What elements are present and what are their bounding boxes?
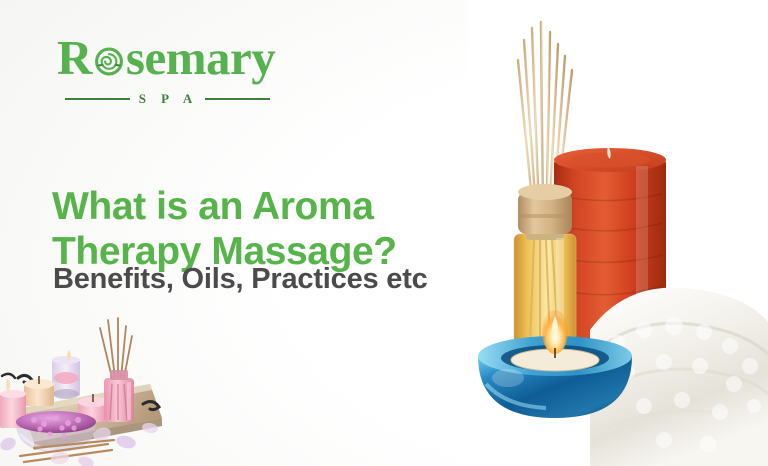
- hero-banner: R semary S P A What is an Aroma Therapy …: [0, 0, 768, 466]
- logo-text-part2: semary: [126, 30, 275, 85]
- logo-tagline-group: S P A: [65, 90, 270, 108]
- logo-text-part1: R: [57, 30, 92, 85]
- logo-tagline: S P A: [137, 91, 199, 107]
- logo-rule-right: [205, 98, 270, 100]
- rose-icon: [91, 44, 127, 80]
- page-subtitle: Benefits, Oils, Practices etc: [53, 262, 533, 297]
- spa-tray-photo: [0, 316, 232, 466]
- logo-wordmark: R semary: [57, 33, 317, 82]
- headline-line-1: What is an Aroma: [52, 185, 374, 228]
- spa-still-life-photo: [468, 0, 768, 466]
- logo-rule-left: [65, 98, 130, 100]
- site-logo[interactable]: R semary S P A: [57, 33, 317, 115]
